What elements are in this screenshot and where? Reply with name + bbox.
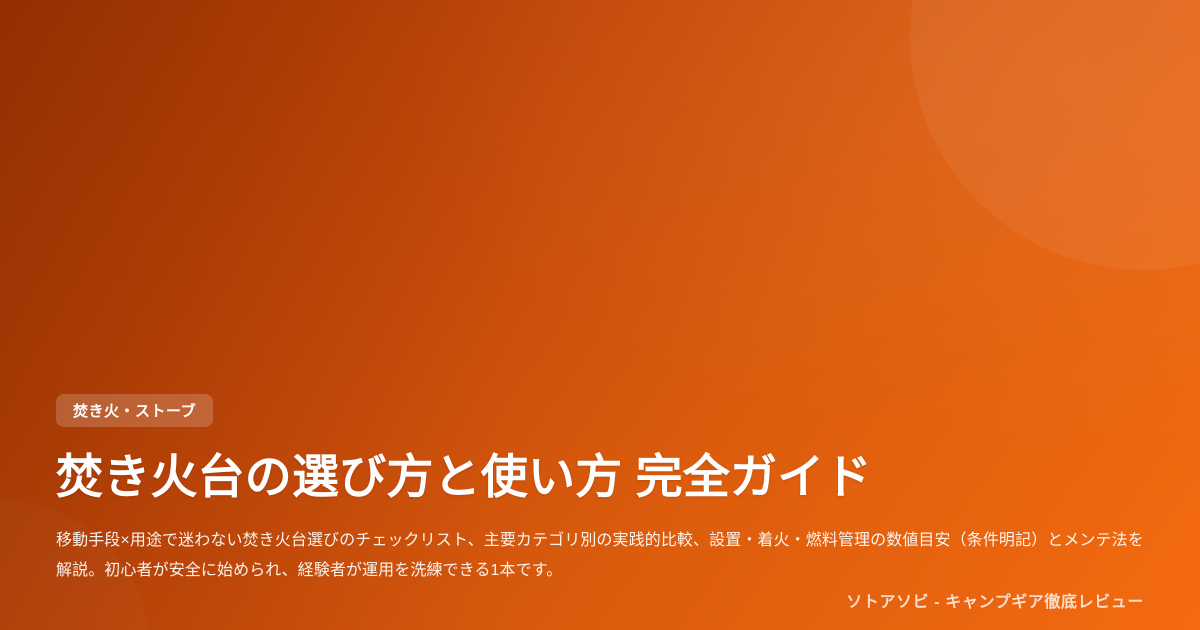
page-description: 移動手段×用途で迷わない焚き火台選びのチェックリスト、主要カテゴリ別の実践的比較… xyxy=(56,526,1146,586)
site-name: ソトアソビ - キャンプギア徹底レビュー xyxy=(846,588,1144,612)
page-title: 焚き火台の選び方と使い方 完全ガイド xyxy=(56,449,872,504)
card-content: 焚き火・ストーブ 焚き火台の選び方と使い方 完全ガイド 移動手段×用途で迷わない… xyxy=(56,0,1144,630)
og-image-card: 焚き火・ストーブ 焚き火台の選び方と使い方 完全ガイド 移動手段×用途で迷わない… xyxy=(0,0,1200,630)
category-badge: 焚き火・ストーブ xyxy=(56,394,213,427)
